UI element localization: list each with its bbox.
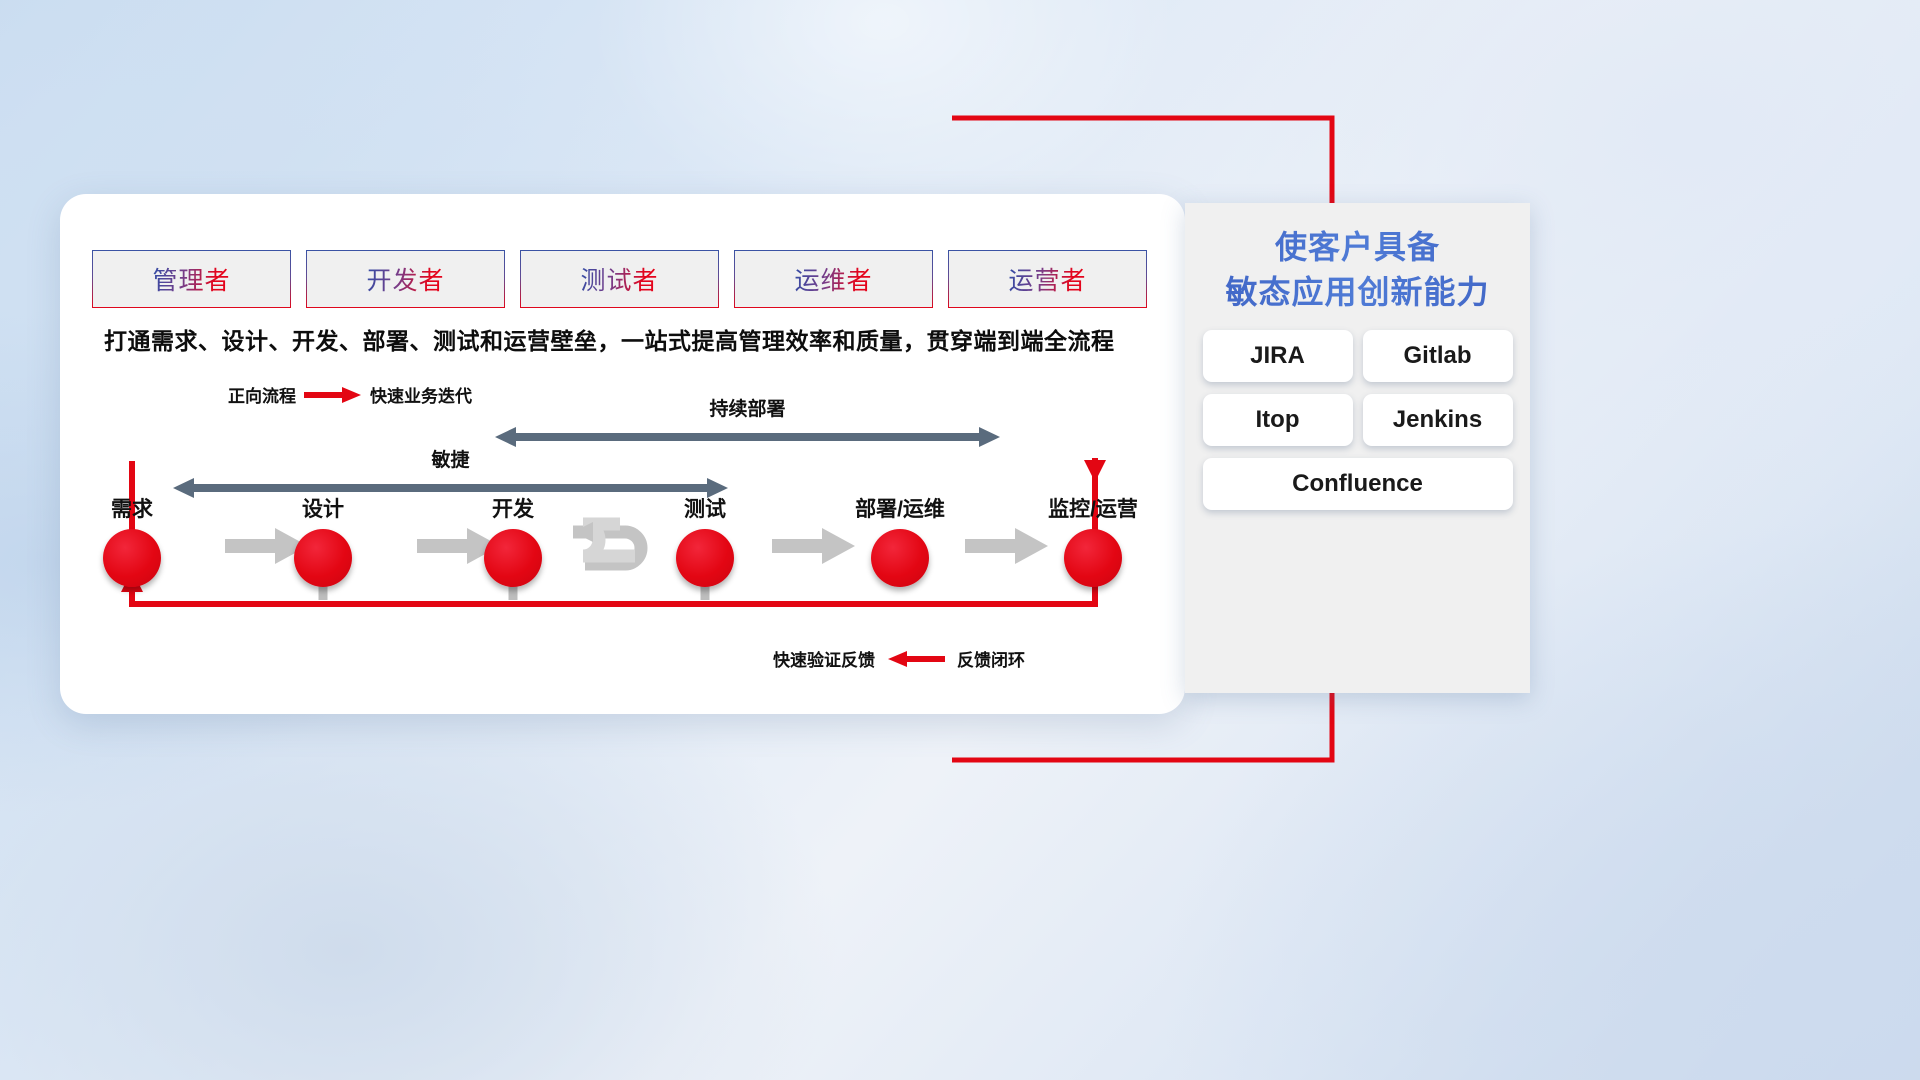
- stage-dot: [871, 529, 929, 587]
- tool-label: Itop: [1256, 406, 1300, 434]
- stage-dot: [1064, 529, 1122, 587]
- stage-label: 测试: [650, 493, 760, 523]
- stage-label: 需求: [77, 493, 187, 523]
- stage-testing[interactable]: 测试: [650, 493, 760, 587]
- stage-development[interactable]: 开发: [458, 493, 568, 587]
- tool-jira[interactable]: JIRA: [1203, 330, 1353, 382]
- stage-dot: [676, 529, 734, 587]
- stage-label: 设计: [268, 493, 378, 523]
- stage-label: 部署/运维: [845, 493, 955, 523]
- stage-dot: [294, 529, 352, 587]
- tool-gitlab[interactable]: Gitlab: [1363, 330, 1513, 382]
- value-proposition-panel: 使客户具备 敏态应用创新能力 JIRA Gitlab Itop Jenkins …: [1185, 203, 1530, 693]
- stage-dot: [484, 529, 542, 587]
- tool-list: JIRA Gitlab Itop Jenkins Confluence: [1195, 330, 1520, 510]
- stage-monitor-operations[interactable]: 监控/运营: [1038, 493, 1148, 587]
- stage-deploy-ops[interactable]: 部署/运维: [845, 493, 955, 587]
- panel-title-line1: 使客户具备: [1185, 225, 1530, 270]
- tool-confluence[interactable]: Confluence: [1203, 458, 1513, 510]
- tool-label: Jenkins: [1393, 406, 1482, 434]
- tool-jenkins[interactable]: Jenkins: [1363, 394, 1513, 446]
- stage-design[interactable]: 设计: [268, 493, 378, 587]
- tool-label: Gitlab: [1403, 342, 1471, 370]
- stage-requirements[interactable]: 需求: [77, 493, 187, 587]
- main-diagram-card: 管理者 开发者 测试者 运维者 运营者 打通需求、设计、开发、部署、测试和运营壁…: [60, 194, 1185, 714]
- tool-label: JIRA: [1250, 342, 1305, 370]
- stage-label: 开发: [458, 493, 568, 523]
- panel-title: 使客户具备 敏态应用创新能力: [1185, 225, 1530, 316]
- panel-title-line2: 敏态应用创新能力: [1185, 270, 1530, 315]
- tool-itop[interactable]: Itop: [1203, 394, 1353, 446]
- tool-label: Confluence: [1292, 470, 1423, 498]
- stage-label: 监控/运营: [1038, 493, 1148, 523]
- pipeline-loop-arrows: [60, 194, 1185, 714]
- stage-dot: [103, 529, 161, 587]
